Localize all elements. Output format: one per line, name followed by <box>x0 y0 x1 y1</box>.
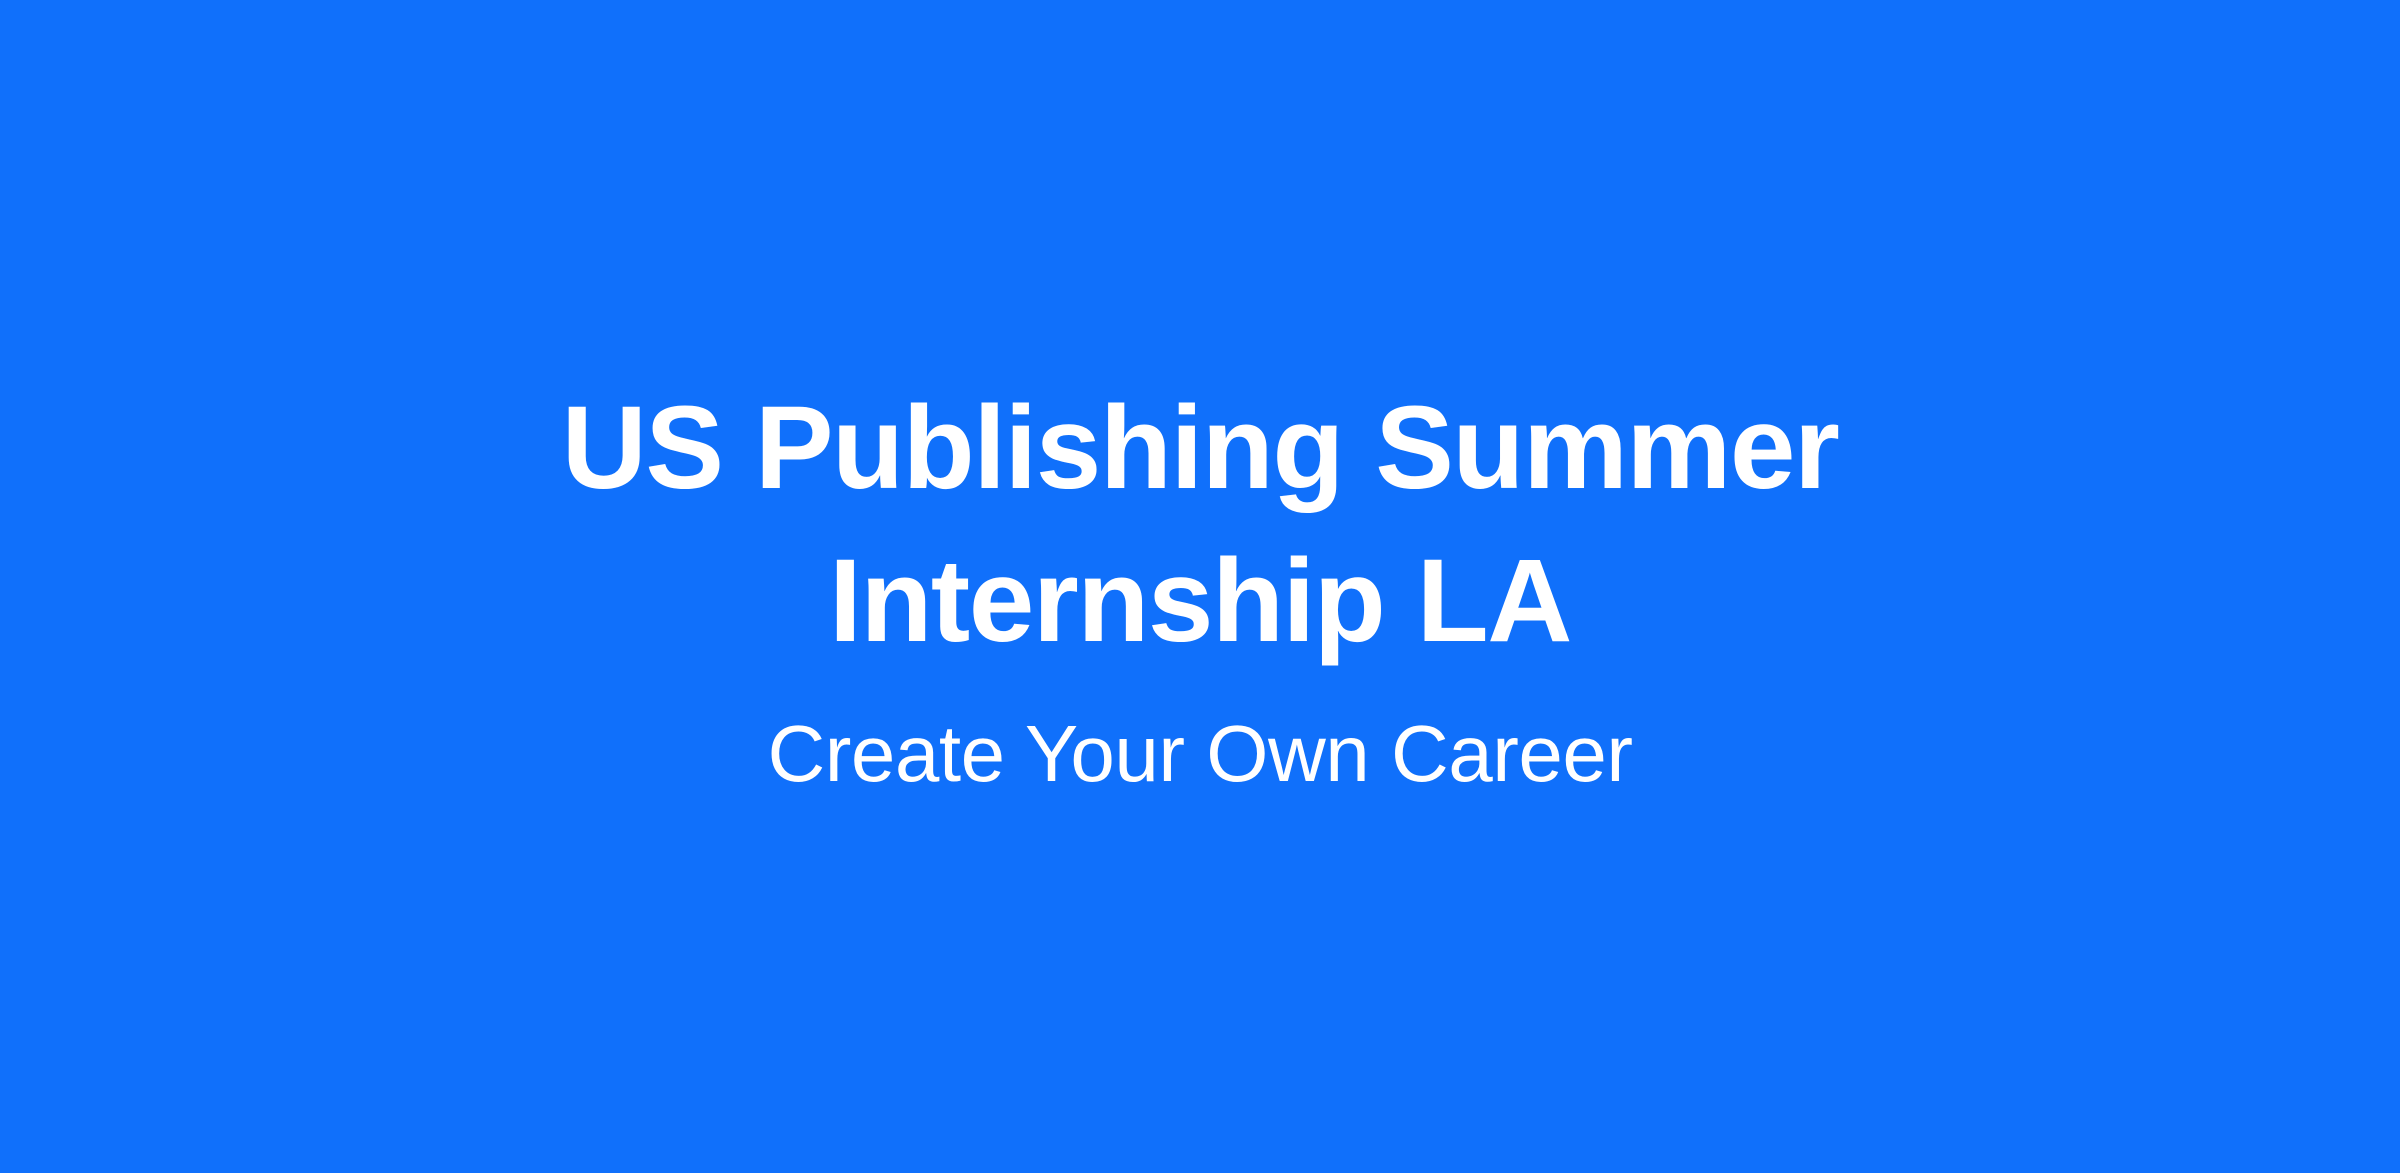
page-subtitle: Create Your Own Career <box>400 678 2000 802</box>
page-title: US Publishing Summer Internship LA <box>540 372 1860 678</box>
hero-text-block: US Publishing Summer Internship LA Creat… <box>0 372 2400 802</box>
hero-banner: US Publishing Summer Internship LA Creat… <box>0 0 2400 1173</box>
